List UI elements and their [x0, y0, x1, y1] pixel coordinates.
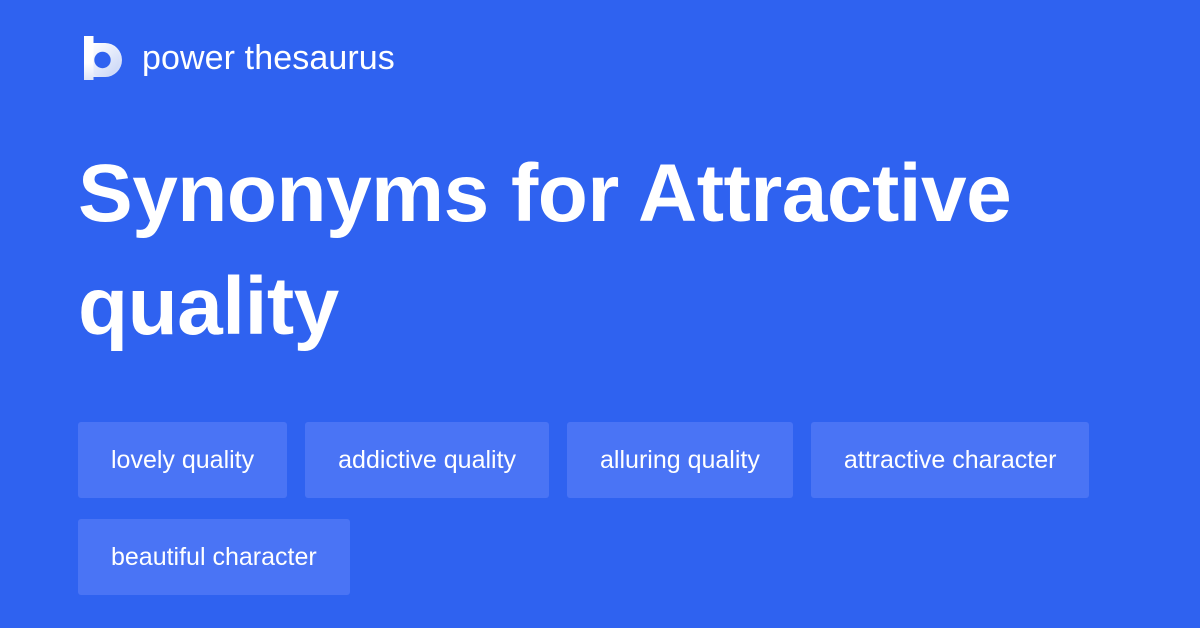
share-card: power thesaurus Synonyms for Attractive …	[0, 0, 1200, 628]
synonym-chip[interactable]: alluring quality	[567, 422, 793, 498]
synonym-chip[interactable]: addictive quality	[305, 422, 549, 498]
synonym-chip[interactable]: attractive character	[811, 422, 1090, 498]
synonym-chip[interactable]: beautiful character	[78, 519, 350, 595]
brand-logo[interactable]: power thesaurus	[78, 28, 395, 88]
synonym-chip[interactable]: lovely quality	[78, 422, 287, 498]
synonym-chip-list: lovely quality addictive quality allurin…	[78, 422, 1118, 595]
brand-name: power thesaurus	[142, 38, 395, 78]
page-title: Synonyms for Attractive quality	[78, 137, 1078, 363]
power-thesaurus-b-logo-icon	[78, 34, 124, 82]
